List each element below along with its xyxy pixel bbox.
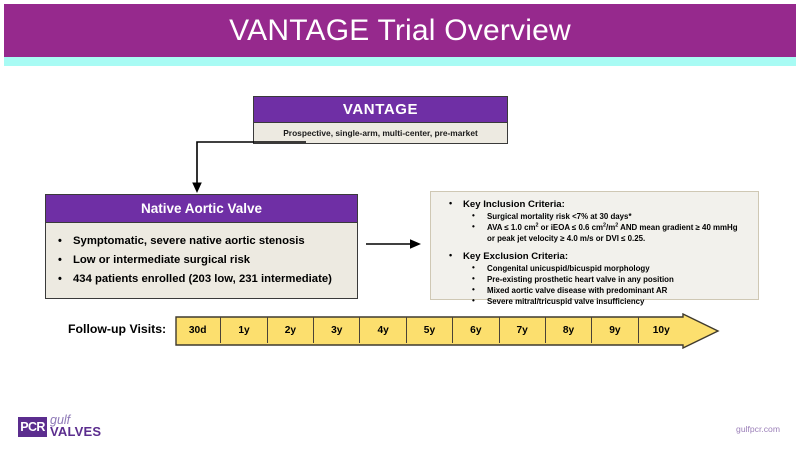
elbow-connector-arrow xyxy=(180,140,310,198)
native-aortic-valve-box: Native Aortic Valve Symptomatic, severe … xyxy=(45,194,358,299)
timeline-visit: 2y xyxy=(268,317,314,343)
timeline-visit: 5y xyxy=(407,317,453,343)
native-aortic-valve-header: Native Aortic Valve xyxy=(46,195,357,223)
slide-title-band: VANTAGE Trial Overview xyxy=(4,4,796,57)
native-aortic-valve-bullet-list: Symptomatic, severe native aortic stenos… xyxy=(56,232,349,289)
timeline-visit: 3y xyxy=(314,317,360,343)
native-aortic-valve-body: Symptomatic, severe native aortic stenos… xyxy=(46,223,357,289)
horizontal-connector-arrow xyxy=(366,236,426,252)
timeline-visit-cells: 30d 1y 2y 3y 4y 5y 6y 7y 8y 9y 10y xyxy=(175,317,684,343)
exclusion-criteria-item: Mixed aortic valve disease with predomin… xyxy=(439,285,752,296)
list-item: Symptomatic, severe native aortic stenos… xyxy=(56,232,349,251)
logo-valves-text: VALVES xyxy=(50,426,101,438)
vantage-trial-box: VANTAGE Prospective, single-arm, multi-c… xyxy=(253,96,508,144)
followup-visits-label: Follow-up Visits: xyxy=(68,322,166,336)
timeline-visit: 10y xyxy=(639,317,684,343)
crit-text-a: AVA ≤ 1.0 cm xyxy=(487,223,535,232)
vantage-box-header: VANTAGE xyxy=(254,97,507,123)
timeline-visit: 30d xyxy=(175,317,221,343)
timeline-visit: 9y xyxy=(592,317,638,343)
crit-text-d: AND mean gradient ≥ 40 mmHg xyxy=(618,223,737,232)
inclusion-criteria-group: Key Inclusion Criteria: Surgical mortali… xyxy=(439,198,752,245)
list-item: 434 patients enrolled (203 low, 231 inte… xyxy=(56,270,349,289)
criteria-box: Key Inclusion Criteria: Surgical mortali… xyxy=(430,191,759,300)
timeline-visit: 8y xyxy=(546,317,592,343)
inclusion-criteria-item: AVA ≤ 1.0 cm2 or iEOA ≤ 0.6 cm2/m2 AND m… xyxy=(439,222,752,233)
accent-divider xyxy=(4,57,796,66)
inclusion-criteria-item: Surgical mortality risk <7% at 30 days* xyxy=(439,211,752,222)
exclusion-criteria-header: Key Exclusion Criteria: xyxy=(439,250,752,263)
page-title: VANTAGE Trial Overview xyxy=(229,16,571,46)
list-item: Low or intermediate surgical risk xyxy=(56,251,349,270)
timeline-visit: 7y xyxy=(500,317,546,343)
pcr-logo-mark: PCR xyxy=(18,417,47,437)
pcr-gulf-valves-logo: PCR gulf VALVES xyxy=(18,415,101,438)
logo-wordmark: gulf VALVES xyxy=(50,415,101,438)
exclusion-criteria-group: Key Exclusion Criteria: Congenital unicu… xyxy=(439,250,752,308)
crit-text-c: /m xyxy=(606,223,615,232)
inclusion-criteria-item-continued: or peak jet velocity ≥ 4.0 m/s or DVI ≤ … xyxy=(439,233,752,244)
timeline-visit: 6y xyxy=(453,317,499,343)
timeline-visit: 4y xyxy=(360,317,406,343)
exclusion-criteria-item: Congenital unicuspid/bicuspid morphology xyxy=(439,263,752,274)
exclusion-criteria-item: Severe mitral/tricuspid valve insufficie… xyxy=(439,296,752,307)
inclusion-criteria-header: Key Inclusion Criteria: xyxy=(439,198,752,211)
crit-text-b: or iEOA ≤ 0.6 cm xyxy=(538,223,603,232)
footer-url: gulfpcr.com xyxy=(736,424,780,434)
timeline-visit: 1y xyxy=(221,317,267,343)
exclusion-criteria-item: Pre-existing prosthetic heart valve in a… xyxy=(439,274,752,285)
